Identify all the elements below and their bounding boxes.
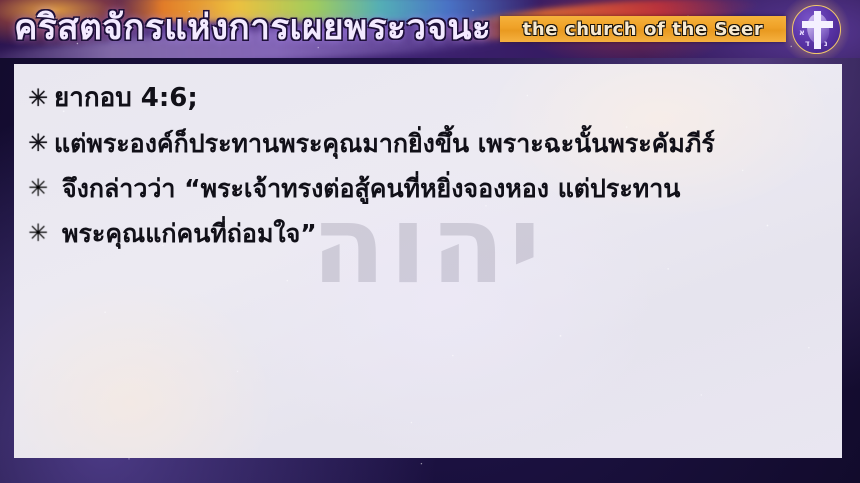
star-bullet-icon: ✳ — [22, 121, 54, 166]
verse-body-line-2: ✳ จึงกล่าวว่า “พระเจ้าทรงต่อสู้คนที่หยิ่… — [22, 166, 834, 211]
verse-body-line-1: ✳ แต่พระองค์ก็ประทานพระคุณมากยิ่งขึ้น เพ… — [22, 121, 834, 166]
bullet-spacer: ✳ — [22, 211, 54, 256]
subtitle-banner: the church of the Seer — [500, 16, 786, 42]
logo-cross-icon — [814, 11, 821, 49]
verse-content-panel: יהוה ✳ ยากอบ 4:6; ✳ แต่พระองค์ก็ประทานพร… — [14, 64, 842, 458]
presentation-slide: คริสตจักรแห่งการเผยพระวจนะ the church of… — [0, 0, 860, 483]
verse-body-text-2: จึงกล่าวว่า “พระเจ้าทรงต่อสู้คนที่หยิ่งจ… — [54, 166, 834, 211]
bullet-spacer: ✳ — [22, 166, 54, 211]
logo-hebrew-mark-1: א — [799, 28, 805, 37]
verse-reference-text: ยากอบ 4:6; — [54, 76, 834, 121]
logo-hebrew-mark-3: נ — [824, 39, 828, 48]
verse-reference-line: ✳ ยากอบ 4:6; — [22, 76, 834, 121]
verse-body-text-3: พระคุณแก่คนที่ถ่อมใจ” — [54, 211, 834, 256]
church-subtitle-english: the church of the Seer — [523, 19, 764, 40]
verse-body-line-3: ✳ พระคุณแก่คนที่ถ่อมใจ” — [22, 211, 834, 256]
logo-disc: א ד נ — [792, 5, 841, 54]
logo-cross-crossbar — [802, 21, 833, 28]
star-bullet-icon: ✳ — [22, 76, 54, 121]
logo-hebrew-mark-2: ד — [805, 39, 810, 48]
church-logo: א ד נ — [786, 1, 844, 57]
scripture-verse-block: ✳ ยากอบ 4:6; ✳ แต่พระองค์ก็ประทานพระคุณม… — [22, 76, 834, 256]
church-title-thai: คริสตจักรแห่งการเผยพระวจนะ — [14, 2, 491, 54]
slide-header: คริสตจักรแห่งการเผยพระวจนะ the church of… — [0, 0, 860, 58]
verse-body-text-1: แต่พระองค์ก็ประทานพระคุณมากยิ่งขึ้น เพรา… — [54, 121, 834, 166]
